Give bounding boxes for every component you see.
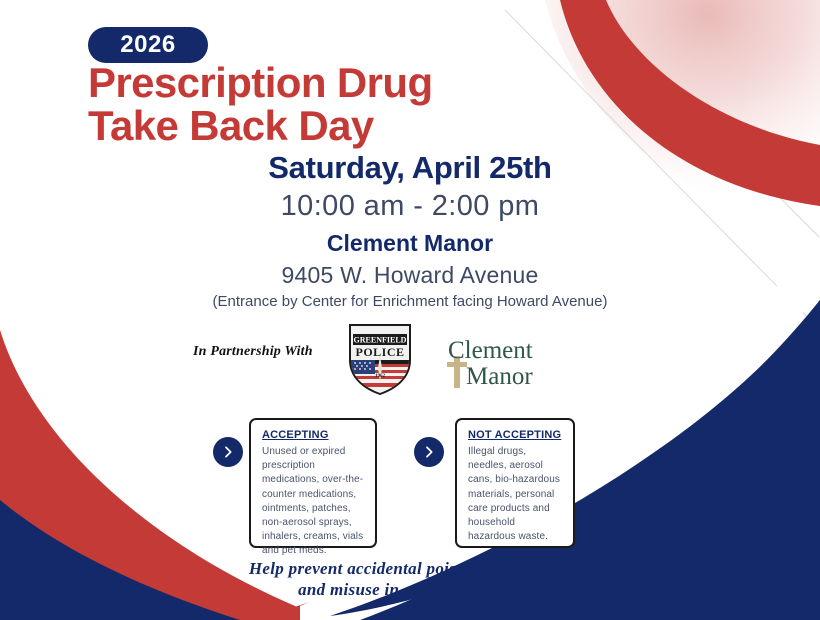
clement-logo-line1: Clement	[448, 337, 533, 364]
accepting-body: Unused or expired prescription medicatio…	[262, 445, 364, 559]
badge-main-text: POLICE	[355, 345, 404, 359]
clement-manor-logo: Clement Manor	[436, 334, 568, 390]
badge-top-text: GREENFIELD	[354, 336, 407, 345]
not-accepting-body: Illegal drugs, needles, aerosol cans, bi…	[468, 445, 562, 544]
event-address: 9405 W. Howard Avenue	[0, 262, 820, 289]
accepting-box: ACCEPTING Unused or expired prescription…	[249, 418, 377, 548]
poster-canvas: 2026 Prescription Drug Take Back Day Sat…	[0, 0, 820, 620]
event-date: Saturday, April 25th	[0, 150, 820, 186]
chevron-right-icon-accepting	[213, 437, 243, 467]
not-accepting-box: NOT ACCEPTING Illegal drugs, needles, ae…	[455, 418, 575, 548]
clement-logo-line2: Manor	[466, 363, 533, 390]
page-title: Prescription Drug Take Back Day	[88, 62, 433, 148]
event-venue: Clement Manor	[0, 230, 820, 257]
chevron-right-icon-not-accepting	[414, 437, 444, 467]
event-time: 10:00 am - 2:00 pm	[0, 190, 820, 223]
partnership-label: In Partnership With	[193, 344, 313, 360]
greenfield-police-badge-icon: GREENFIELD POLICE 1962	[344, 320, 416, 396]
year-badge: 2026	[88, 27, 208, 63]
tagline: Help prevent accidental poisoning, overd…	[0, 558, 820, 601]
entrance-note: (Entrance by Center for Enrichment facin…	[0, 293, 820, 310]
year-badge-label: 2026	[120, 31, 175, 59]
accepting-heading: ACCEPTING	[262, 429, 364, 441]
badge-year-text: 1962	[375, 374, 386, 379]
not-accepting-heading: NOT ACCEPTING	[468, 429, 562, 441]
